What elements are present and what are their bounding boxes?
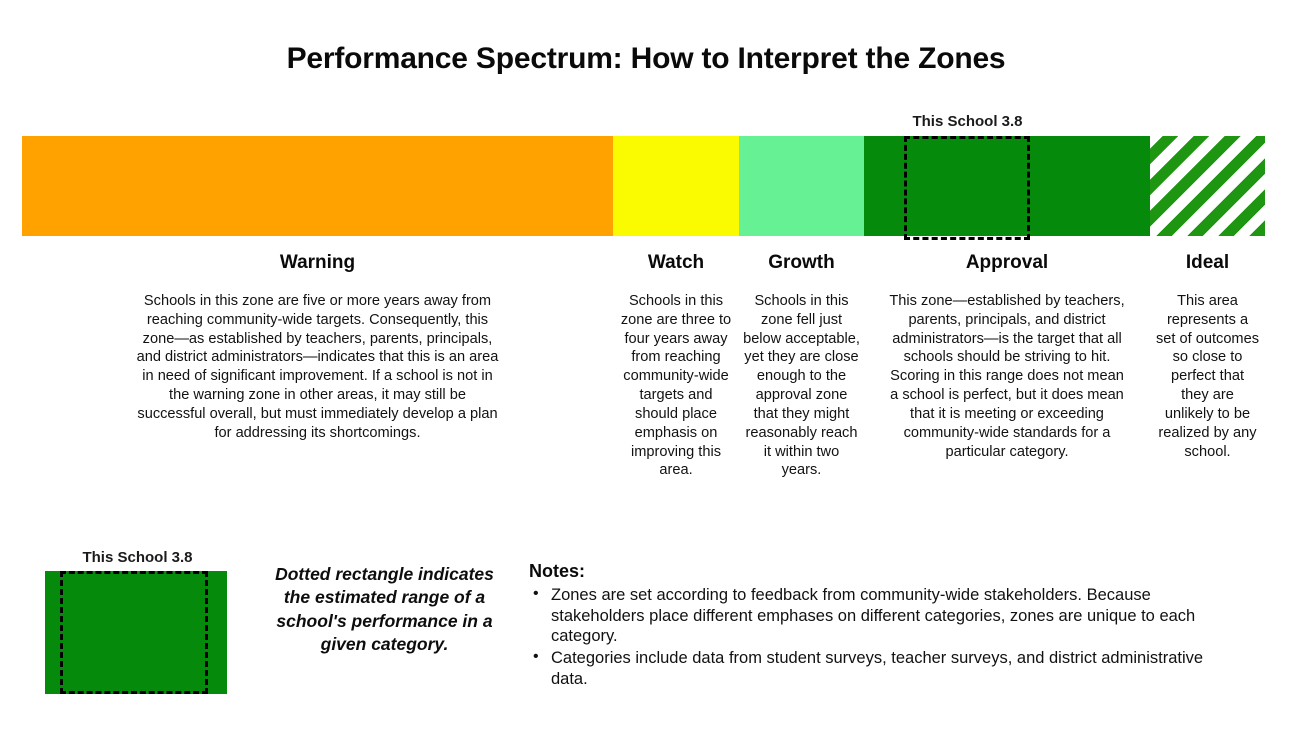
- zone-heading-ideal: Ideal: [1150, 252, 1265, 274]
- zone-column-approval: Approval This zone—established by teache…: [864, 252, 1150, 461]
- legend-marker-label: This School 3.8: [40, 549, 235, 566]
- notes-section: Notes: • Zones are set according to feed…: [529, 561, 1229, 690]
- notes-list-item: • Categories include data from student s…: [529, 648, 1229, 689]
- zone-heading-growth: Growth: [739, 252, 864, 274]
- zone-heading-watch: Watch: [613, 252, 739, 274]
- legend-caption: Dotted rectangle indicates the estimated…: [262, 563, 507, 656]
- zone-column-watch: Watch Schools in this zone are three to …: [613, 252, 739, 480]
- notes-item-text: Categories include data from student sur…: [551, 649, 1203, 688]
- zone-description-growth: Schools in this zone fell just below acc…: [743, 292, 861, 480]
- notes-list-item: • Zones are set according to feedback fr…: [529, 585, 1229, 647]
- zone-column-ideal: Ideal This area represents a set of outc…: [1150, 252, 1265, 461]
- page-title: Performance Spectrum: How to Interpret t…: [0, 42, 1292, 76]
- zone-description-watch: Schools in this zone are three to four y…: [616, 292, 736, 480]
- zone-description-approval: This zone—established by teachers, paren…: [887, 292, 1127, 461]
- spectrum-band-watch: [613, 136, 739, 236]
- school-score-range-marker: [904, 136, 1030, 240]
- school-score-marker-label: This School 3.8: [880, 113, 1055, 130]
- zone-column-growth: Growth Schools in this zone fell just be…: [739, 252, 864, 480]
- notes-title: Notes:: [529, 561, 1229, 582]
- bullet-icon: •: [533, 647, 539, 667]
- spectrum-band-growth: [739, 136, 864, 236]
- spectrum-band-ideal: [1150, 136, 1265, 236]
- zone-description-warning: Schools in this zone are five or more ye…: [135, 292, 500, 443]
- performance-spectrum-bar: [22, 136, 1265, 236]
- notes-list: • Zones are set according to feedback fr…: [529, 585, 1229, 689]
- zone-description-ideal: This area represents a set of outcomes s…: [1156, 292, 1260, 461]
- spectrum-band-warning: [22, 136, 613, 236]
- zone-heading-approval: Approval: [864, 252, 1150, 274]
- legend-dashed-rectangle: [60, 571, 208, 694]
- zone-heading-warning: Warning: [22, 252, 613, 274]
- notes-item-text: Zones are set according to feedback from…: [551, 586, 1195, 645]
- zone-column-warning: Warning Schools in this zone are five or…: [22, 252, 613, 443]
- bullet-icon: •: [533, 584, 539, 604]
